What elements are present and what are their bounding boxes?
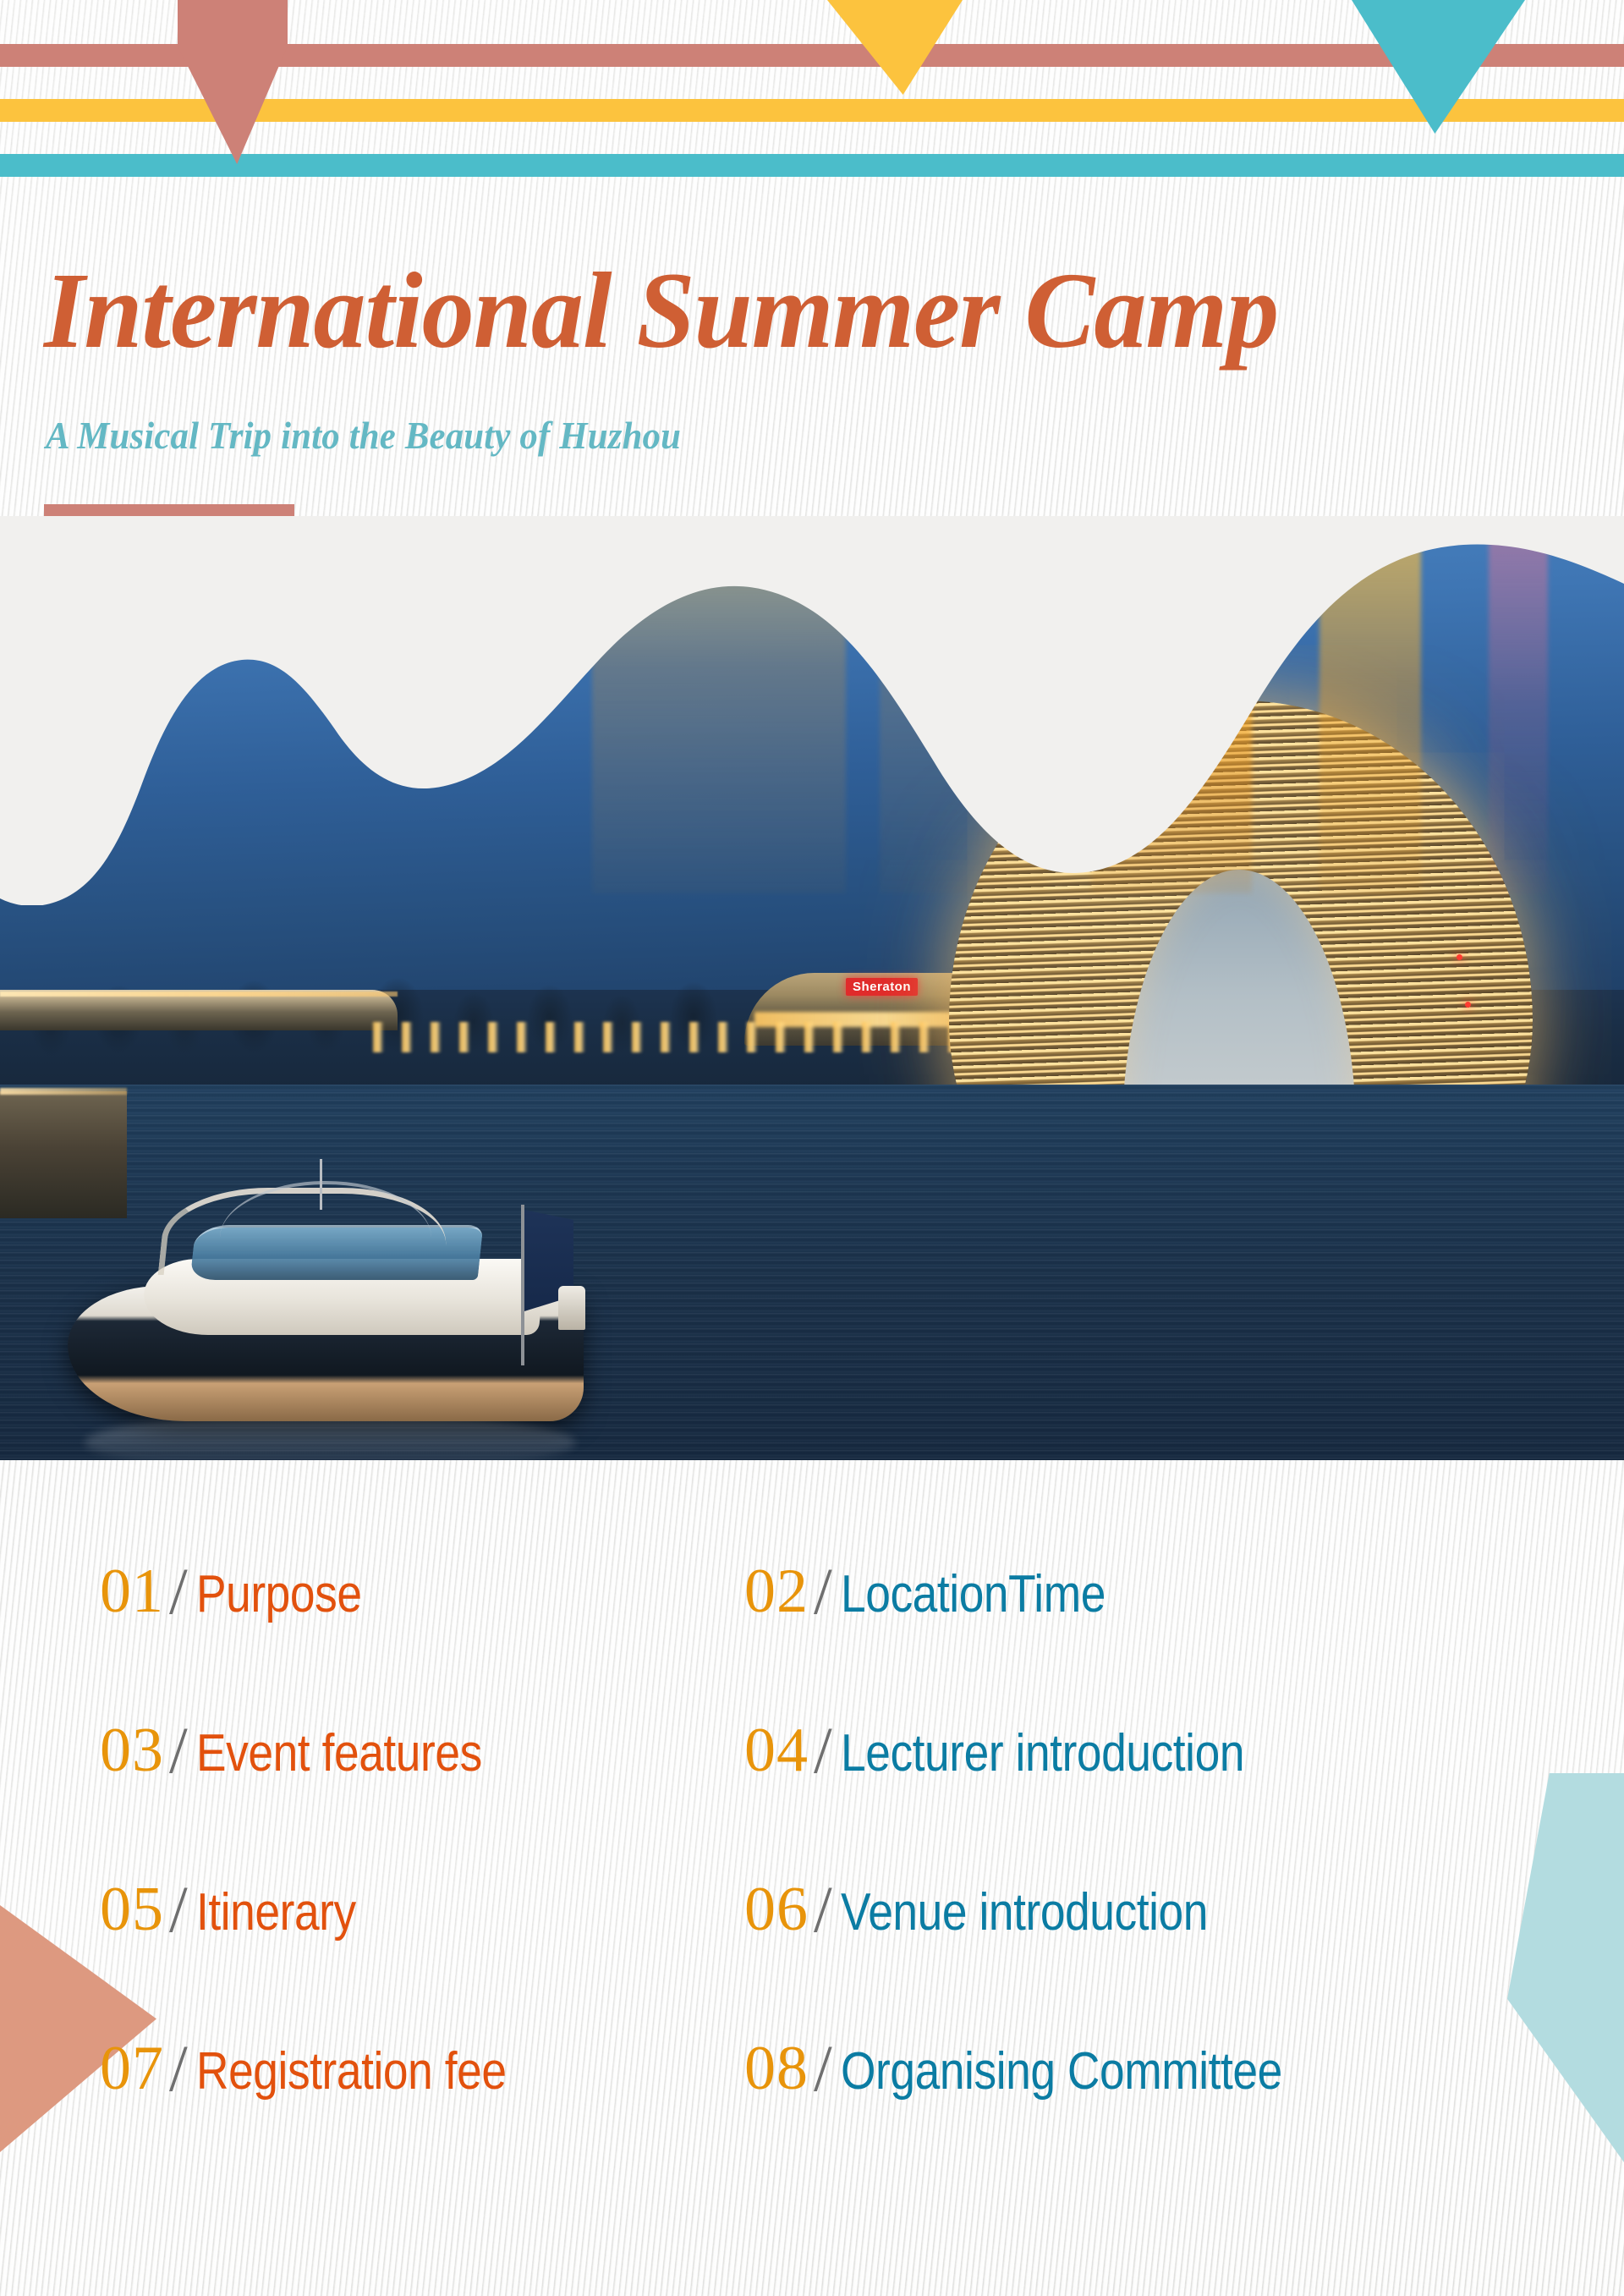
promenade-lights [364,1022,1023,1052]
toc-separator: / [814,1717,832,1783]
water-reflection-secondary [1319,516,1421,893]
toc-item-02[interactable]: 02 / LocationTime [744,1557,1149,1623]
toc-label: Purpose [196,1568,362,1621]
poster-canvas: International Summer Camp A Musical Trip… [0,0,1624,2296]
toc-number: 08 [744,2037,809,2100]
toc-item-03[interactable]: 03 / Event features [100,1716,528,1782]
water-reflection-hotel [1091,516,1252,893]
toc-separator: / [169,1558,188,1624]
page-title: International Summer Camp [44,254,1278,367]
toc-separator: / [169,1876,188,1942]
toc-item-05[interactable]: 05 / Itinerary [100,1875,381,1941]
toc-separator: / [169,1717,188,1783]
toc-label: Organising Committee [841,2046,1282,2098]
page-subtitle: A Musical Trip into the Beauty of Huzhou [46,413,681,458]
bridge-light-rail [0,991,398,997]
yacht-flag-pole [521,1205,524,1365]
yacht-mast [320,1159,322,1210]
toc-item-06[interactable]: 06 / Venue introduction [744,1875,1267,1941]
toc-label: Itinerary [196,1887,356,1939]
decor-triangle-rose [178,0,288,164]
aviation-light-icon [1465,1002,1471,1008]
toc-label: Event features [196,1727,482,1780]
dock-bollard [558,1286,585,1330]
toc-number: 02 [744,1560,809,1623]
aviation-light-icon [1457,954,1462,960]
toc-number: 03 [100,1719,164,1782]
toc-label: Lecturer introduction [841,1727,1244,1780]
moored-yacht [51,1159,609,1438]
water-reflection-promenade [592,516,846,893]
toc-item-07[interactable]: 07 / Registration fee [100,2034,557,2100]
toc-number: 04 [744,1719,809,1782]
water-reflection-pink [1489,516,1548,893]
sheraton-neon-sign: Sheraton [846,978,918,996]
toc-label: LocationTime [841,1568,1106,1621]
hero-photo-image: Sheraton [0,516,1624,1460]
water-reflection-building [880,516,1049,893]
toc-label: Registration fee [196,2046,507,2098]
toc-number: 07 [100,2037,164,2100]
toc-separator: / [814,2035,832,2101]
toc-number: 05 [100,1878,164,1941]
toc-label: Venue introduction [841,1887,1208,1939]
table-of-contents: 01 / Purpose 02 / LocationTime 03 / Even… [0,1557,1624,2200]
toc-separator: / [169,2035,188,2101]
toc-number: 06 [744,1878,809,1941]
toc-separator: / [814,1558,832,1624]
toc-item-04[interactable]: 04 / Lecturer introduction [744,1716,1309,1782]
toc-item-01[interactable]: 01 / Purpose [100,1557,388,1623]
toc-item-08[interactable]: 08 / Organising Committee [744,2034,1353,2100]
toc-separator: / [814,1876,832,1942]
dock-quay-light [0,1088,127,1095]
decor-bar-teal [0,154,1624,177]
hero-photo: Sheraton [0,516,1624,1460]
toc-number: 01 [100,1560,164,1623]
